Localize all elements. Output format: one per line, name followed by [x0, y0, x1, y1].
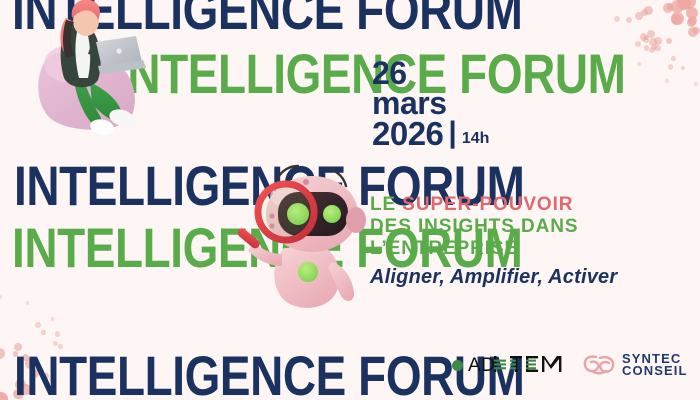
svg-text:AD: AD: [468, 355, 495, 376]
tagline-subtitle: Aligner, Amplifier, Activer: [370, 266, 680, 289]
event-date-year-row: 2026 | 14h: [372, 118, 489, 149]
woman-on-beanbag-illustration: [30, 0, 160, 141]
wordmark-row-2: INTELLIGENCE FORUM: [115, 48, 625, 101]
robot-with-magnifying-glass-illustration: [228, 162, 373, 314]
syntec-loops-icon: [582, 352, 616, 378]
tagline-line1-prefix: LE: [370, 194, 402, 215]
event-date-day: 26: [372, 58, 489, 88]
partner-logos: AD: [452, 352, 687, 378]
event-date-month: mars: [372, 88, 489, 118]
wordmark-row-5: INTELLIGENCE FORUM: [14, 350, 524, 400]
event-date-block: 26 mars 2026 | 14h: [372, 58, 489, 149]
adetem-logo: AD: [452, 354, 564, 376]
syntec-conseil-logo: SYNTEC CONSEIL: [582, 352, 687, 378]
syntec-wordmark: SYNTEC CONSEIL: [622, 353, 687, 378]
event-time: 14h: [462, 131, 490, 146]
syntec-line-2: CONSEIL: [622, 365, 687, 377]
date-time-separator: |: [448, 118, 456, 148]
tagline-line1-highlight: SUPER-POUVOIR: [402, 194, 573, 215]
tagline-line2: DES INSIGHTS DANS: [370, 216, 579, 237]
event-banner: INTELLIGENCE FORUM INTELLIGENCE FORUM IN…: [0, 0, 700, 400]
tagline-headline: LE SUPER-POUVOIR DES INSIGHTS DANS L’ENT…: [370, 194, 680, 260]
event-date-year: 2026: [372, 118, 443, 149]
adetem-dot-icon: [452, 360, 463, 371]
event-tagline: LE SUPER-POUVOIR DES INSIGHTS DANS L’ENT…: [370, 194, 680, 289]
adetem-wordmark-icon: AD: [468, 354, 564, 376]
tagline-line3: L’ENTREPRISE: [370, 238, 518, 259]
